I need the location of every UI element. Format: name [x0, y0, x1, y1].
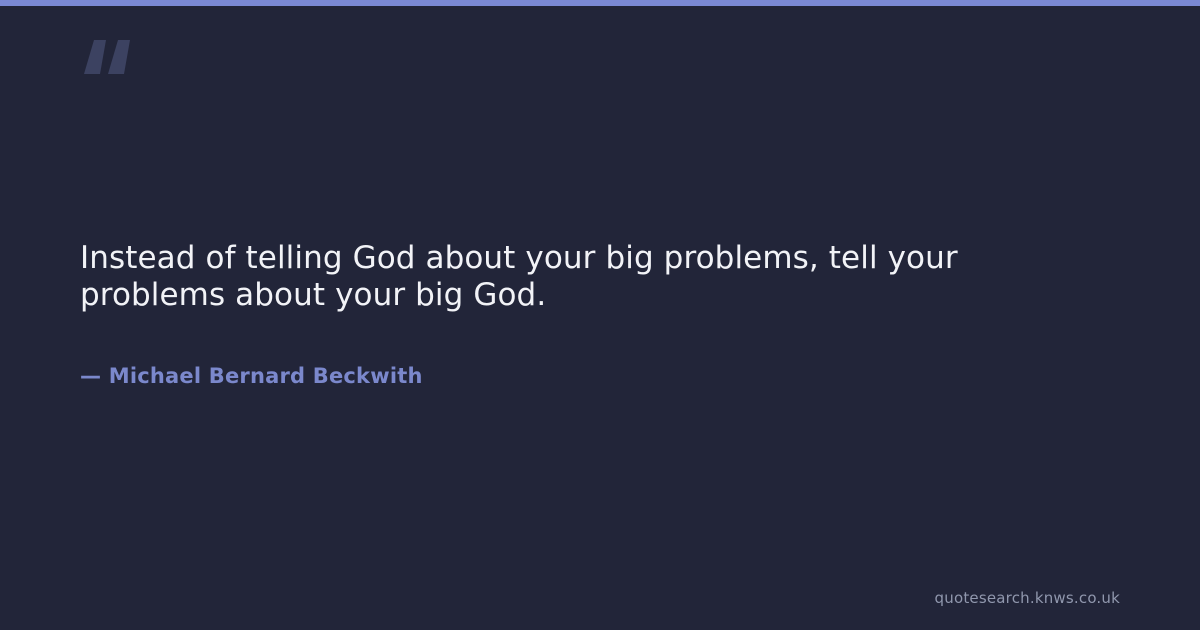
- attribution-dash: —: [80, 364, 101, 388]
- site-watermark: quotesearch.knws.co.uk: [935, 589, 1120, 607]
- quote-text: Instead of telling God about your big pr…: [80, 240, 990, 314]
- quote-card: Instead of telling God about your big pr…: [0, 0, 1200, 630]
- double-quote-open-icon: [80, 38, 132, 82]
- attribution-separator: [101, 364, 109, 388]
- attribution-author-name: Michael Bernard Beckwith: [109, 364, 423, 388]
- top-accent-bar: [0, 0, 1200, 6]
- quote-body: Instead of telling God about your big pr…: [80, 240, 990, 389]
- quote-attribution: — Michael Bernard Beckwith: [80, 314, 990, 389]
